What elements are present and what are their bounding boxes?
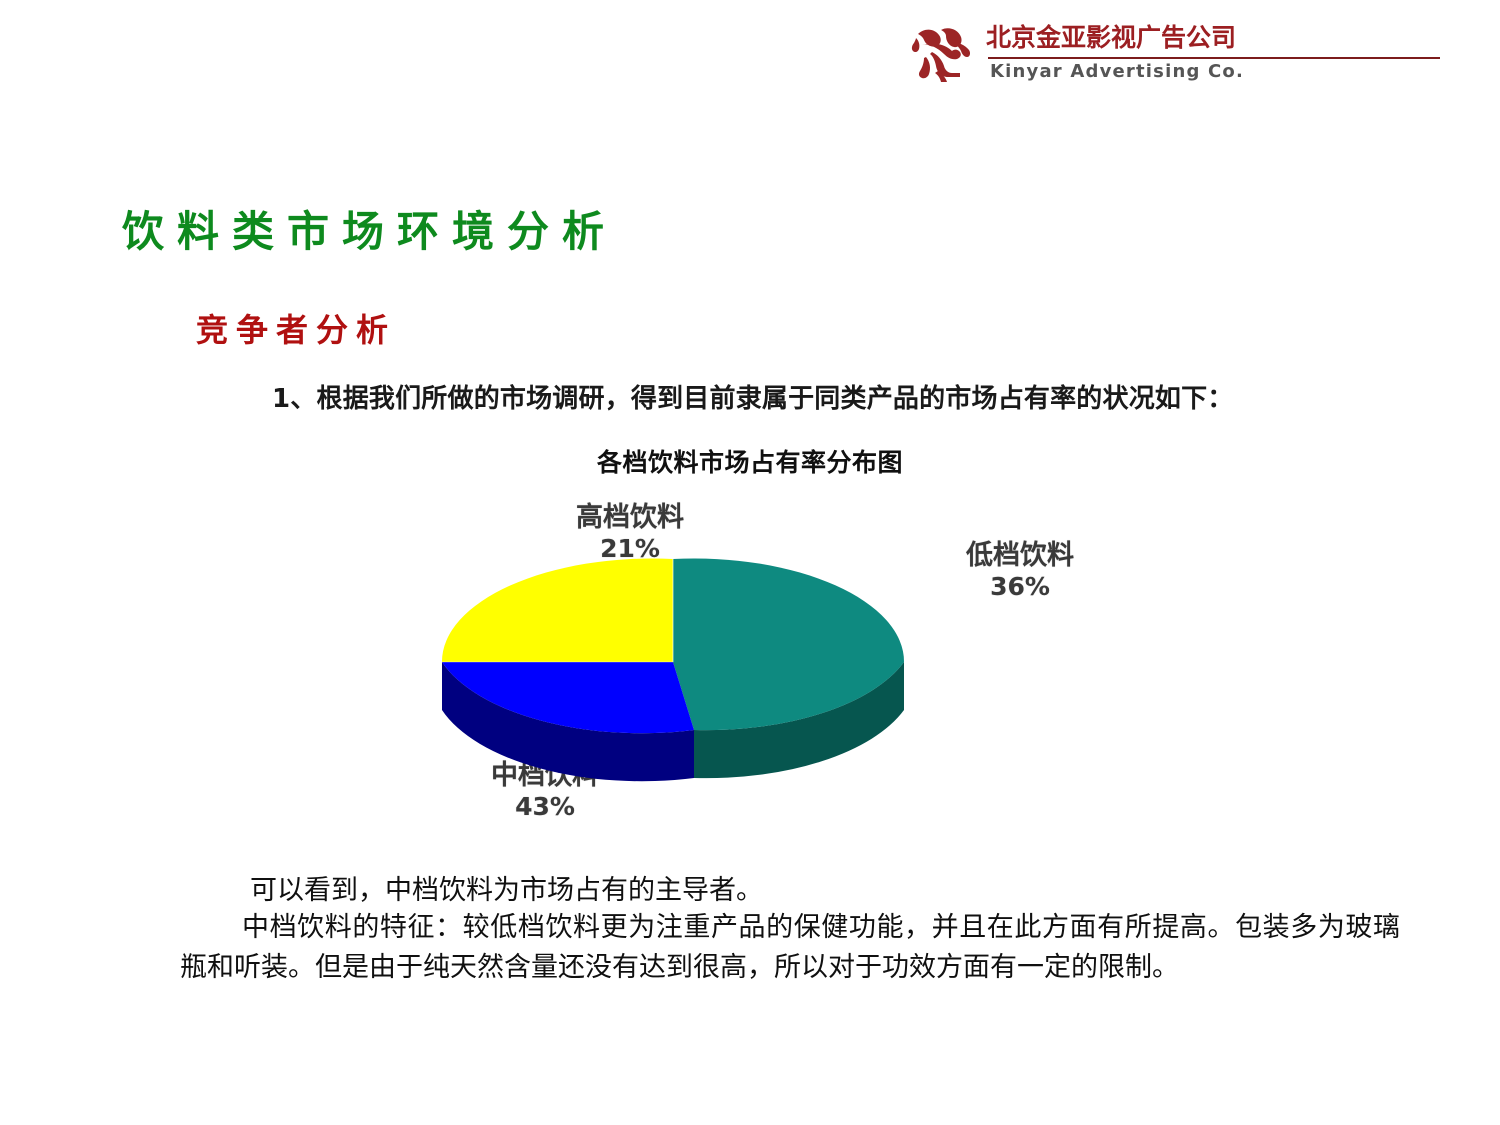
slide-header: 北京金亚影视广告公司 Kinyar Advertising Co.: [908, 22, 1448, 88]
chart-title: 各档饮料市场占有率分布图: [0, 443, 1500, 479]
header-divider-rule: [988, 57, 1440, 59]
company-name-cn: 北京金亚影视广告公司: [986, 24, 1236, 52]
body-paragraph: 中档饮料的特征：较低档饮料更为注重产品的保健功能，并且在此方面有所提高。包装多为…: [180, 908, 1400, 988]
body-paragraph-text: 中档饮料的特征：较低档饮料更为注重产品的保健功能，并且在此方面有所提高。包装多为…: [180, 908, 1400, 988]
section-title: 竞争者分析: [196, 305, 396, 351]
slide-canvas: 北京金亚影视广告公司 Kinyar Advertising Co. 饮料类市场环…: [0, 0, 1500, 1125]
pie-label-high-grade-name: 高档饮料: [530, 502, 730, 534]
bullet-point-1: 1、根据我们所做的市场调研，得到目前隶属于同类产品的市场占有率的状况如下：: [272, 378, 1234, 415]
phoenix-bird-logo-icon: [908, 24, 980, 84]
pie-chart-graphic: [420, 550, 980, 810]
pie-slice-high-grade: [442, 558, 673, 662]
conclusion-text: 可以看到，中档饮料为市场占有的主导者。: [250, 868, 763, 907]
page-title: 饮料类市场环境分析: [122, 198, 617, 259]
company-name-en: Kinyar Advertising Co.: [990, 61, 1244, 82]
pie-chart: 高档饮料 21% 低档饮料 36% 中档饮料 43%: [400, 495, 1120, 845]
